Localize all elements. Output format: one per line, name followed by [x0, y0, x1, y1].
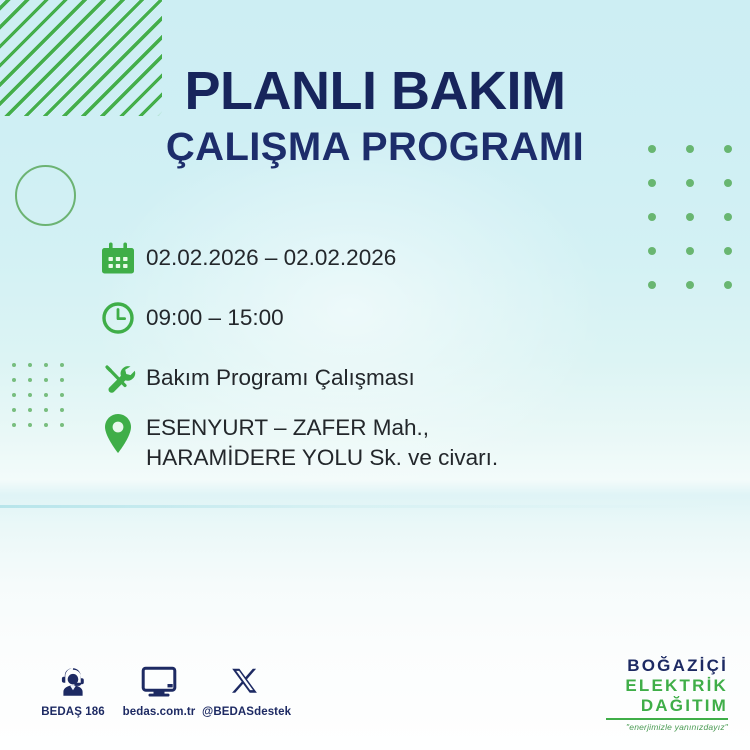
dot — [28, 393, 32, 397]
brand-line-2: ELEKTRİK — [606, 677, 728, 694]
bedas-logo: BOĞAZİÇİ ELEKTRİK DAĞITIM "enerjimizle y… — [606, 657, 728, 731]
dot — [60, 378, 64, 382]
detail-row-location: ESENYURT – ZAFER Mah., HARAMİDERE YOLU S… — [100, 412, 660, 472]
support-agent-icon — [30, 662, 116, 702]
dot — [60, 363, 64, 367]
page-title: PLANLI BAKIM ÇALIŞMA PROGRAMI — [0, 64, 750, 170]
work-type-value: Bakım Programı Çalışması — [146, 356, 415, 393]
dot — [28, 378, 32, 382]
dot — [44, 408, 48, 412]
contact-footer: BEDAŞ 186 bedas.com.tr @BEDASdestek — [30, 662, 288, 720]
dot — [44, 393, 48, 397]
dot — [12, 378, 16, 382]
brand-divider — [606, 718, 728, 720]
brand-tagline: "enerjimizle yanınızdayız" — [606, 723, 728, 732]
contact-twitter-label: @BEDASdestek — [202, 706, 291, 718]
dot — [28, 408, 32, 412]
dot — [44, 423, 48, 427]
dot — [648, 213, 656, 221]
dot — [60, 393, 64, 397]
dot — [724, 179, 732, 187]
brand-line-3: DAĞITIM — [606, 697, 728, 714]
title-primary: PLANLI BAKIM — [0, 64, 750, 118]
dot — [724, 281, 732, 289]
monitor-icon — [116, 662, 202, 702]
contact-phone[interactable]: BEDAŞ 186 — [30, 662, 116, 720]
dot — [648, 179, 656, 187]
dot — [28, 423, 32, 427]
dot — [686, 213, 694, 221]
clock-icon — [100, 296, 146, 340]
circle-outline-decoration — [15, 165, 76, 226]
dot — [724, 213, 732, 221]
contact-website-label: bedas.com.tr — [123, 706, 196, 718]
dot — [60, 423, 64, 427]
time-range-value: 09:00 – 15:00 — [146, 296, 284, 333]
date-range-value: 02.02.2026 – 02.02.2026 — [146, 236, 396, 273]
dot — [686, 281, 694, 289]
contact-website[interactable]: bedas.com.tr — [116, 662, 202, 720]
dot — [12, 393, 16, 397]
dot — [12, 423, 16, 427]
maintenance-details: 02.02.2026 – 02.02.2026 09:00 – 15:00 — [100, 236, 660, 487]
detail-row-work-type: Bakım Programı Çalışması — [100, 356, 660, 400]
background-band — [0, 505, 750, 508]
contact-phone-label: BEDAŞ 186 — [41, 706, 105, 718]
dot — [686, 179, 694, 187]
calendar-icon — [100, 236, 146, 280]
x-twitter-icon — [202, 662, 288, 702]
contact-twitter[interactable]: @BEDASdestek — [202, 662, 288, 720]
dot — [28, 363, 32, 367]
dot — [44, 378, 48, 382]
dot — [724, 247, 732, 255]
detail-row-time: 09:00 – 15:00 — [100, 296, 660, 340]
dot — [686, 247, 694, 255]
detail-row-date: 02.02.2026 – 02.02.2026 — [100, 236, 660, 280]
dot — [12, 408, 16, 412]
dot — [12, 363, 16, 367]
dot — [60, 408, 64, 412]
dot-grid-left-decoration — [12, 363, 76, 438]
title-secondary: ÇALIŞMA PROGRAMI — [0, 124, 750, 170]
brand-line-1: BOĞAZİÇİ — [606, 657, 728, 674]
location-value: ESENYURT – ZAFER Mah., HARAMİDERE YOLU S… — [146, 412, 498, 472]
location-pin-icon — [100, 412, 146, 456]
tools-icon — [100, 356, 146, 400]
dot-grid-right-decoration — [648, 145, 750, 315]
planned-maintenance-poster: PLANLI BAKIM ÇALIŞMA PROGRAMI — [0, 0, 750, 750]
dot — [44, 363, 48, 367]
